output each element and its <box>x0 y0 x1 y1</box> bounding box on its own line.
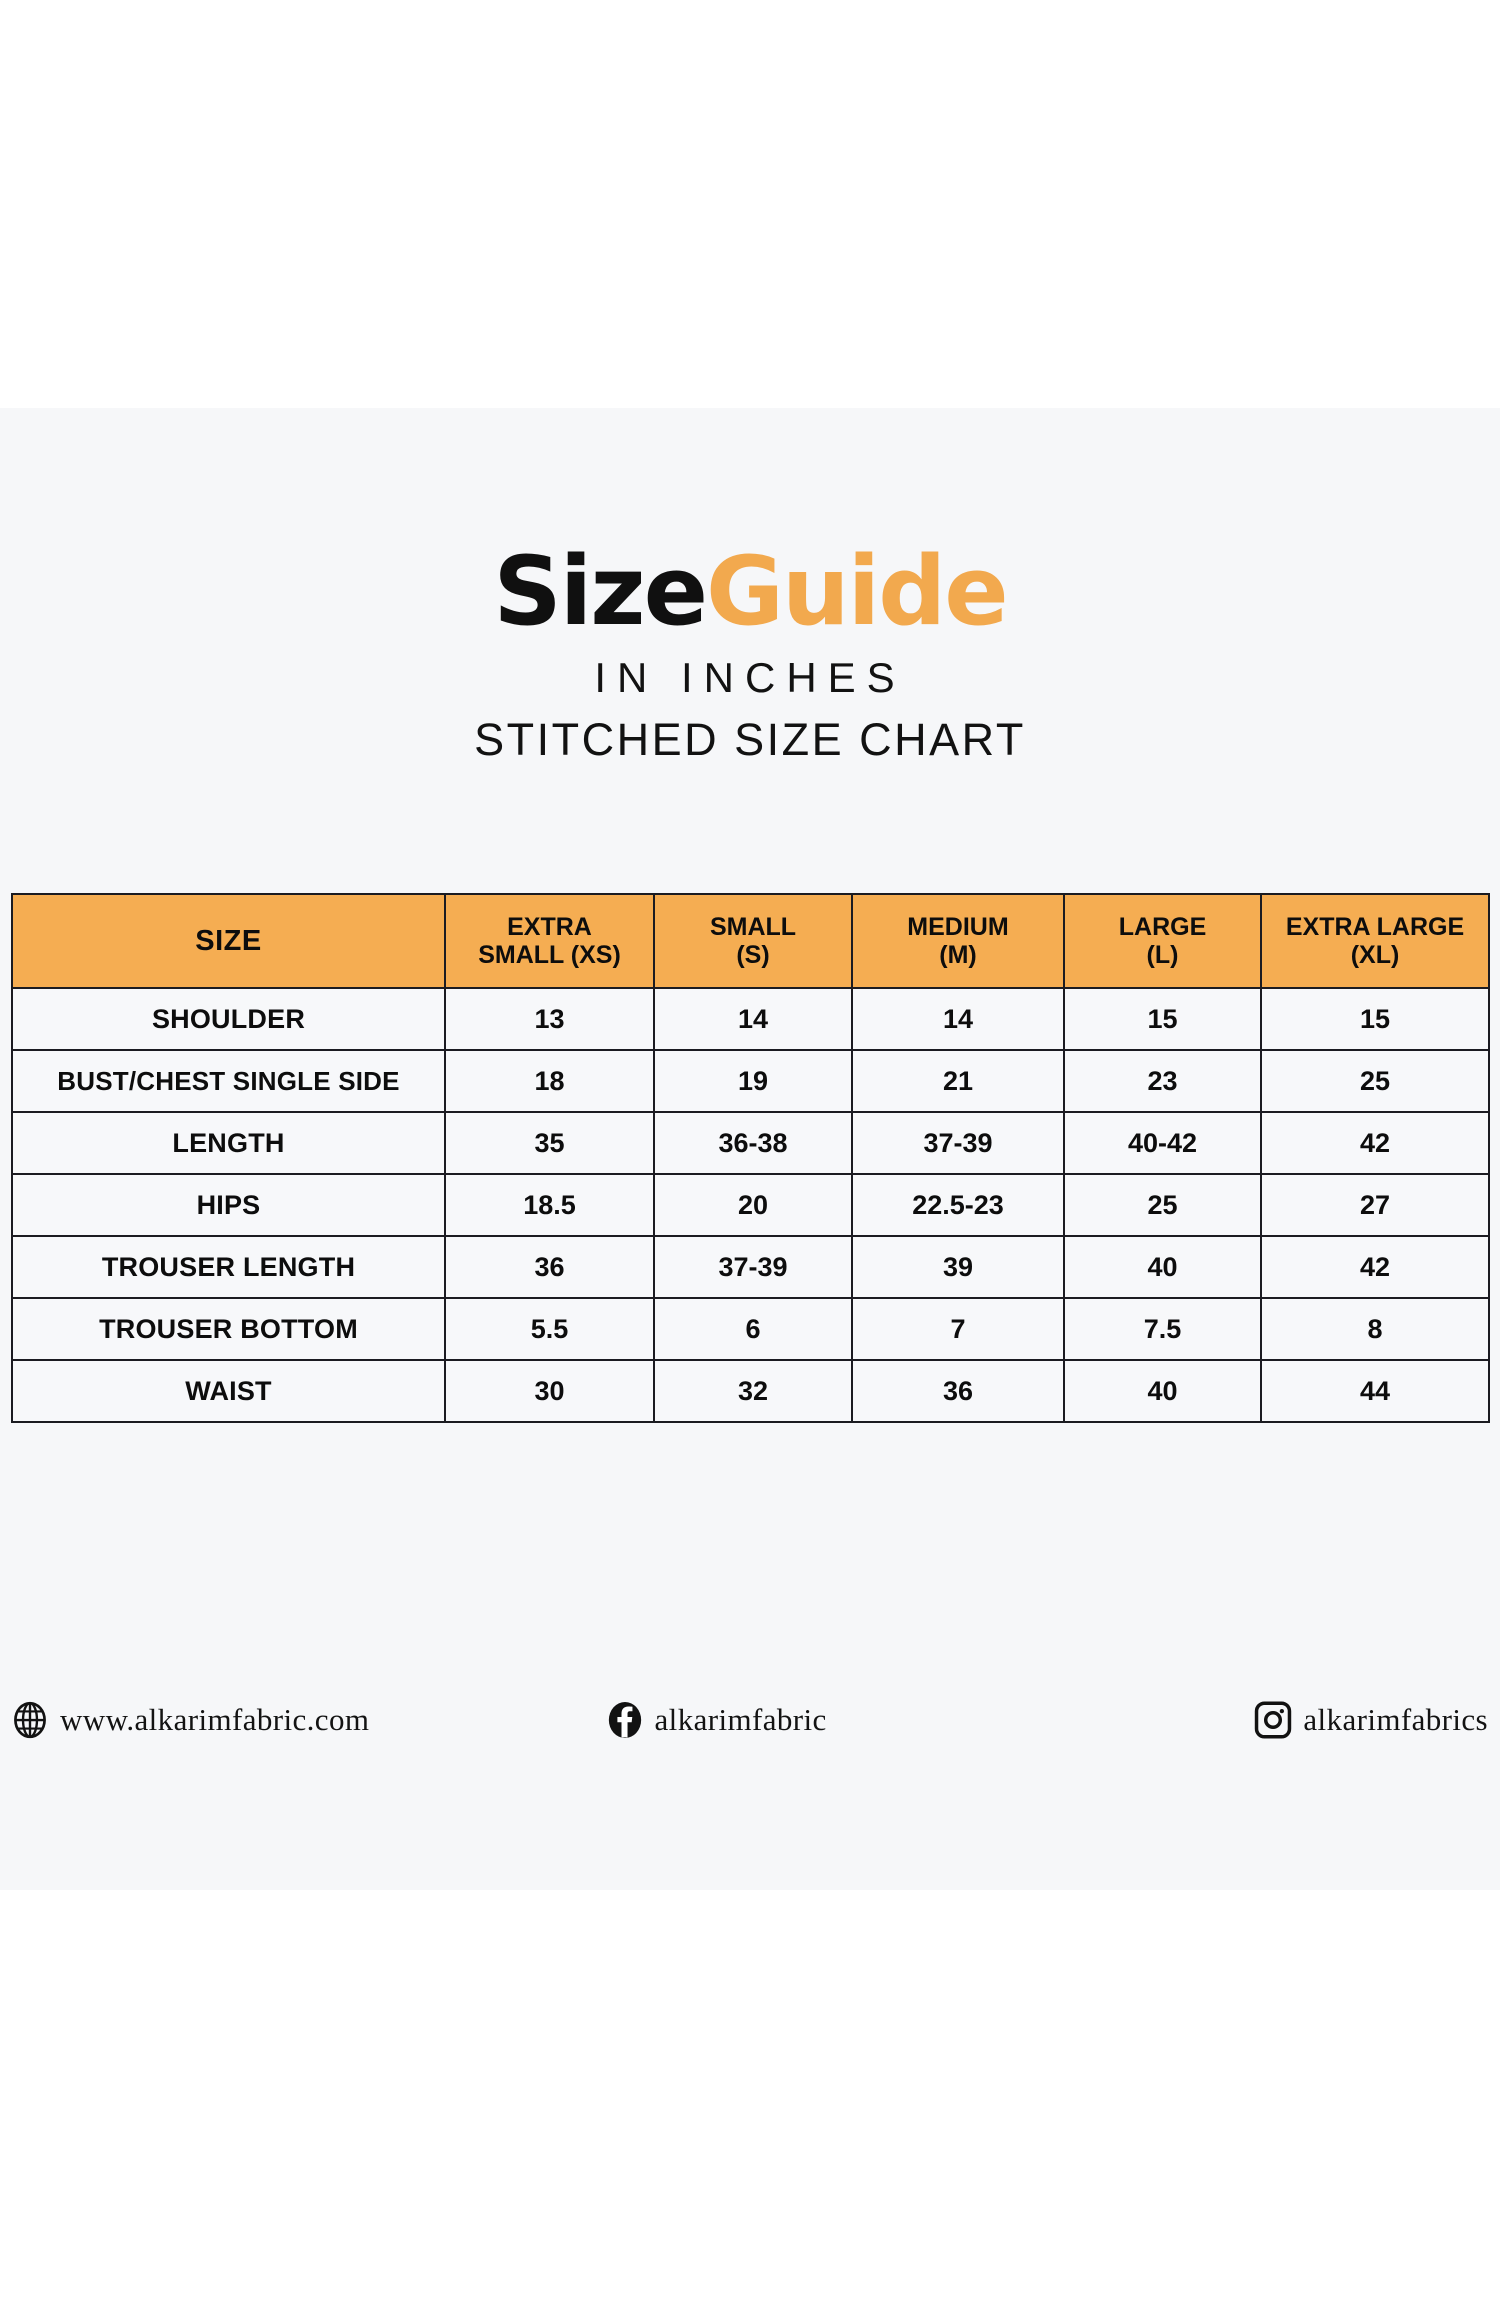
table-row: TROUSER BOTTOM 5.5 6 7 7.5 8 <box>12 1298 1489 1360</box>
instagram-icon <box>1254 1701 1292 1739</box>
table-row: TROUSER LENGTH 36 37-39 39 40 42 <box>12 1236 1489 1298</box>
cell-s: 37-39 <box>654 1236 852 1298</box>
facebook-icon <box>606 1701 644 1739</box>
instagram-handle: alkarimfabrics <box>1303 1702 1488 1738</box>
column-header-l-line2: (L) <box>1147 941 1179 969</box>
cell-xl: 42 <box>1261 1112 1489 1174</box>
title-block: SizeGuide IN INCHES STITCHED SIZE CHART <box>0 545 1500 766</box>
row-label: LENGTH <box>12 1112 445 1174</box>
column-header-l-line1: LARGE <box>1119 913 1207 941</box>
cell-xs: 18 <box>445 1050 654 1112</box>
column-header-m-line2: (M) <box>939 941 976 969</box>
cell-xl: 42 <box>1261 1236 1489 1298</box>
cell-xl: 44 <box>1261 1360 1489 1422</box>
cell-m: 37-39 <box>852 1112 1064 1174</box>
table-row: WAIST 30 32 36 40 44 <box>12 1360 1489 1422</box>
title-word-guide: Guide <box>706 537 1007 647</box>
column-header-size: SIZE <box>12 894 445 988</box>
column-header-l: LARGE (L) <box>1064 894 1261 988</box>
table-header: SIZE EXTRA SMALL (XS) SMALL (S) MEDIUM (… <box>12 894 1489 988</box>
facebook-handle: alkarimfabric <box>655 1702 827 1738</box>
globe-icon <box>11 1701 49 1739</box>
row-label: TROUSER LENGTH <box>12 1236 445 1298</box>
table-header-row: SIZE EXTRA SMALL (XS) SMALL (S) MEDIUM (… <box>12 894 1489 988</box>
website-url: www.alkarimfabric.com <box>60 1702 369 1738</box>
column-header-xs: EXTRA SMALL (XS) <box>445 894 654 988</box>
row-label: HIPS <box>12 1174 445 1236</box>
cell-l: 23 <box>1064 1050 1261 1112</box>
cell-xs: 5.5 <box>445 1298 654 1360</box>
cell-l: 40 <box>1064 1236 1261 1298</box>
cell-s: 19 <box>654 1050 852 1112</box>
size-chart-table: SIZE EXTRA SMALL (XS) SMALL (S) MEDIUM (… <box>11 893 1490 1423</box>
subtitle-units: IN INCHES <box>0 654 1500 702</box>
cell-xl: 25 <box>1261 1050 1489 1112</box>
page-title: SizeGuide <box>0 545 1500 640</box>
size-guide-page: SizeGuide IN INCHES STITCHED SIZE CHART … <box>0 0 1500 2300</box>
column-header-xl: EXTRA LARGE (XL) <box>1261 894 1489 988</box>
cell-xs: 36 <box>445 1236 654 1298</box>
footer-website[interactable]: www.alkarimfabric.com <box>11 1701 491 1739</box>
table-row: SHOULDER 13 14 14 15 15 <box>12 988 1489 1050</box>
table-body: SHOULDER 13 14 14 15 15 BUST/CHEST SINGL… <box>12 988 1489 1422</box>
column-header-xs-line2: SMALL (XS) <box>478 941 621 969</box>
column-header-m-line1: MEDIUM <box>907 913 1008 941</box>
table-row: BUST/CHEST SINGLE SIDE 18 19 21 23 25 <box>12 1050 1489 1112</box>
column-header-s: SMALL (S) <box>654 894 852 988</box>
cell-xl: 8 <box>1261 1298 1489 1360</box>
cell-m: 36 <box>852 1360 1064 1422</box>
title-word-size: Size <box>493 537 706 647</box>
table-row: HIPS 18.5 20 22.5-23 25 27 <box>12 1174 1489 1236</box>
column-header-s-line2: (S) <box>736 941 769 969</box>
row-label: TROUSER BOTTOM <box>12 1298 445 1360</box>
cell-xs: 35 <box>445 1112 654 1174</box>
table-row: LENGTH 35 36-38 37-39 40-42 42 <box>12 1112 1489 1174</box>
column-header-s-line1: SMALL <box>710 913 796 941</box>
column-header-xs-line1: EXTRA <box>507 913 592 941</box>
cell-s: 14 <box>654 988 852 1050</box>
cell-xs: 30 <box>445 1360 654 1422</box>
cell-xl: 27 <box>1261 1174 1489 1236</box>
cell-m: 21 <box>852 1050 1064 1112</box>
cell-l: 40-42 <box>1064 1112 1261 1174</box>
cell-m: 22.5-23 <box>852 1174 1064 1236</box>
cell-s: 32 <box>654 1360 852 1422</box>
cell-m: 39 <box>852 1236 1064 1298</box>
footer-instagram[interactable]: alkarimfabrics <box>1048 1701 1488 1739</box>
cell-l: 7.5 <box>1064 1298 1261 1360</box>
cell-s: 20 <box>654 1174 852 1236</box>
footer-contact-bar: www.alkarimfabric.com alkarimfabric alka… <box>11 1690 1488 1750</box>
row-label: BUST/CHEST SINGLE SIDE <box>12 1050 445 1112</box>
row-label: WAIST <box>12 1360 445 1422</box>
cell-m: 7 <box>852 1298 1064 1360</box>
cell-s: 6 <box>654 1298 852 1360</box>
cell-l: 15 <box>1064 988 1261 1050</box>
column-header-xl-line2: (XL) <box>1351 941 1400 969</box>
cell-l: 25 <box>1064 1174 1261 1236</box>
subtitle-chart-type: STITCHED SIZE CHART <box>0 714 1500 766</box>
footer-facebook[interactable]: alkarimfabric <box>491 1701 1049 1739</box>
column-header-xl-line1: EXTRA LARGE <box>1286 913 1464 941</box>
row-label: SHOULDER <box>12 988 445 1050</box>
cell-s: 36-38 <box>654 1112 852 1174</box>
column-header-m: MEDIUM (M) <box>852 894 1064 988</box>
cell-xs: 18.5 <box>445 1174 654 1236</box>
cell-l: 40 <box>1064 1360 1261 1422</box>
cell-xs: 13 <box>445 988 654 1050</box>
cell-m: 14 <box>852 988 1064 1050</box>
cell-xl: 15 <box>1261 988 1489 1050</box>
